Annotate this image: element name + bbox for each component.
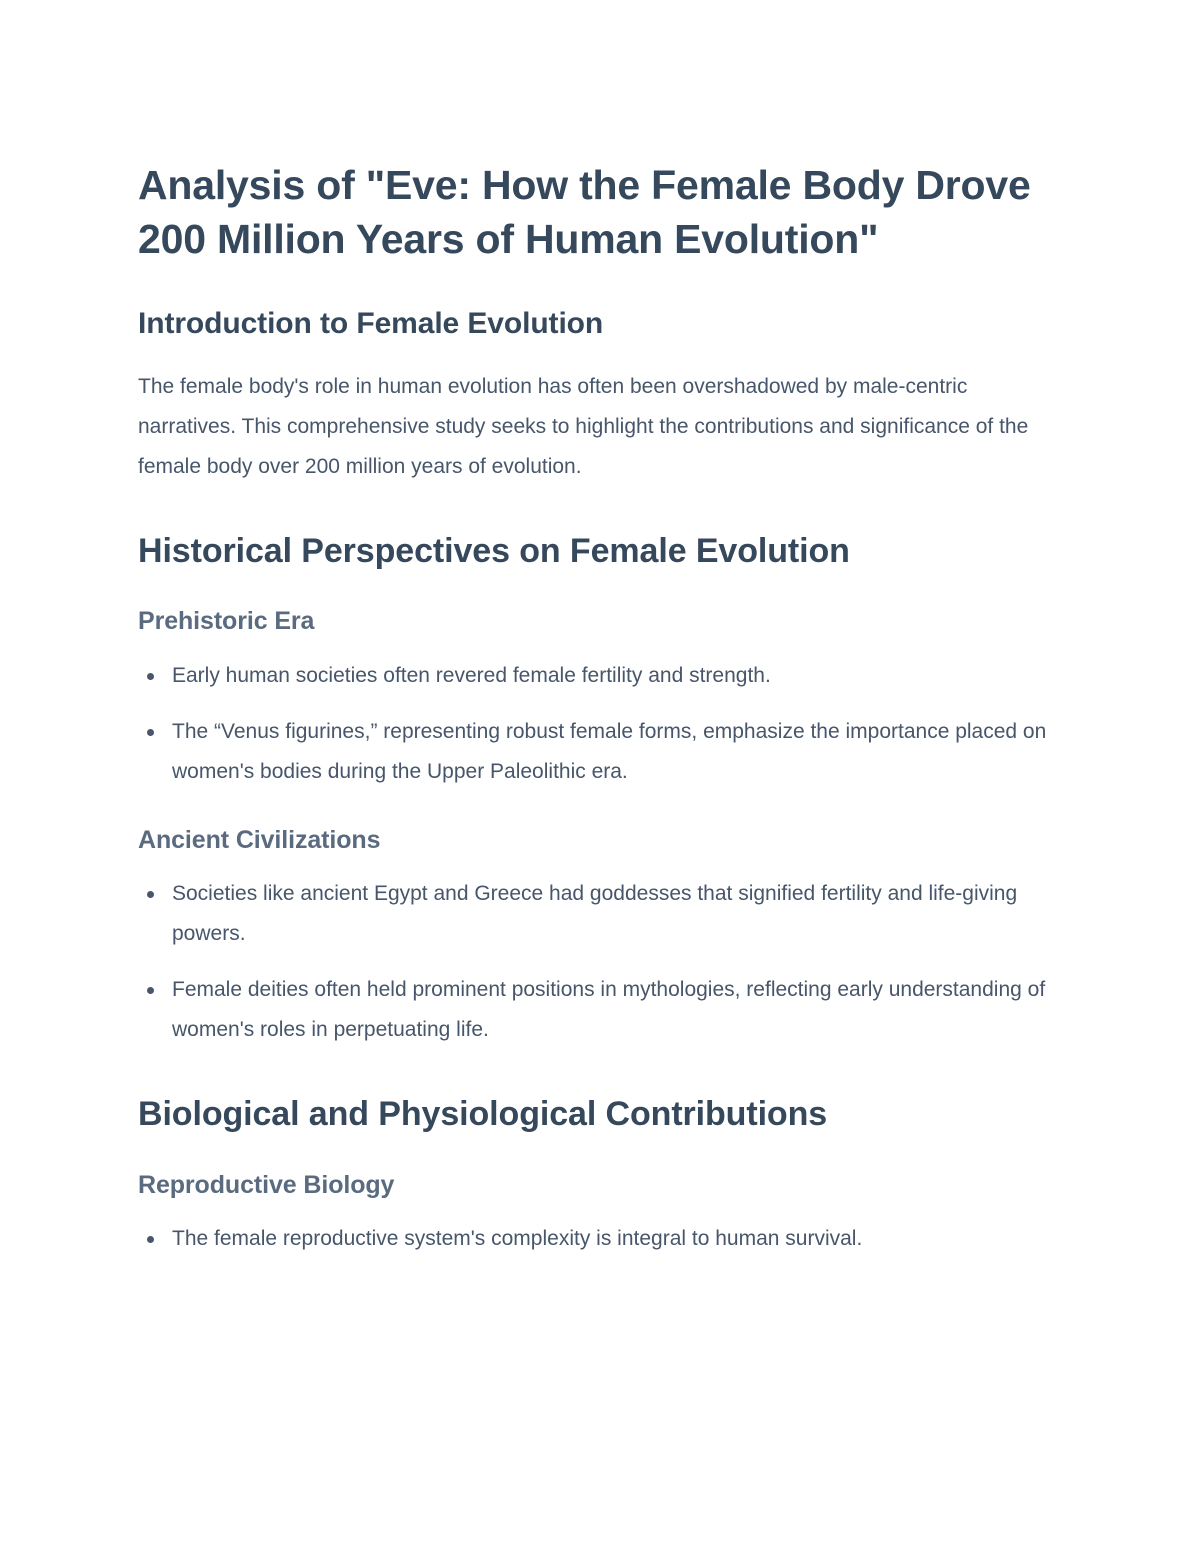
document-body: Analysis of "Eve: How the Female Body Dr… bbox=[138, 0, 1058, 1259]
list-item: Early human societies often revered fema… bbox=[138, 656, 1058, 696]
subsection-heading-prehistoric-era: Prehistoric Era bbox=[138, 573, 1058, 638]
bullet-dot-icon bbox=[147, 1236, 154, 1243]
page-title: Analysis of "Eve: How the Female Body Dr… bbox=[138, 0, 1038, 266]
list-item-text: Societies like ancient Egypt and Greece … bbox=[172, 882, 1017, 945]
section-heading-biological-contributions: Biological and Physiological Contributio… bbox=[138, 1050, 1058, 1136]
bullet-dot-icon bbox=[147, 891, 154, 898]
list-item: Societies like ancient Egypt and Greece … bbox=[138, 874, 1058, 954]
list-item-text: The female reproductive system's complex… bbox=[172, 1227, 862, 1250]
intro-paragraph: The female body's role in human evolutio… bbox=[138, 343, 1038, 487]
section-heading-historical-perspectives: Historical Perspectives on Female Evolut… bbox=[138, 487, 1058, 573]
subsection-heading-ancient-civilizations: Ancient Civilizations bbox=[138, 792, 1058, 857]
document-page: Analysis of "Eve: How the Female Body Dr… bbox=[0, 0, 1200, 1553]
subsection-heading-reproductive-biology: Reproductive Biology bbox=[138, 1137, 1058, 1202]
bullet-list-reproductive-biology: The female reproductive system's complex… bbox=[138, 1201, 1058, 1259]
list-item: The “Venus figurines,” representing robu… bbox=[138, 712, 1058, 792]
bullet-dot-icon bbox=[147, 673, 154, 680]
list-item: Female deities often held prominent posi… bbox=[138, 970, 1058, 1050]
bullet-dot-icon bbox=[147, 987, 154, 994]
list-item-text: Female deities often held prominent posi… bbox=[172, 978, 1045, 1041]
bullet-list-ancient-civilizations: Societies like ancient Egypt and Greece … bbox=[138, 856, 1058, 1050]
list-item-text: The “Venus figurines,” representing robu… bbox=[172, 720, 1046, 783]
bullet-list-prehistoric-era: Early human societies often revered fema… bbox=[138, 638, 1058, 792]
list-item: The female reproductive system's complex… bbox=[138, 1219, 1058, 1259]
bullet-dot-icon bbox=[147, 729, 154, 736]
list-item-text: Early human societies often revered fema… bbox=[172, 664, 771, 687]
section-heading-introduction: Introduction to Female Evolution bbox=[138, 266, 1058, 343]
